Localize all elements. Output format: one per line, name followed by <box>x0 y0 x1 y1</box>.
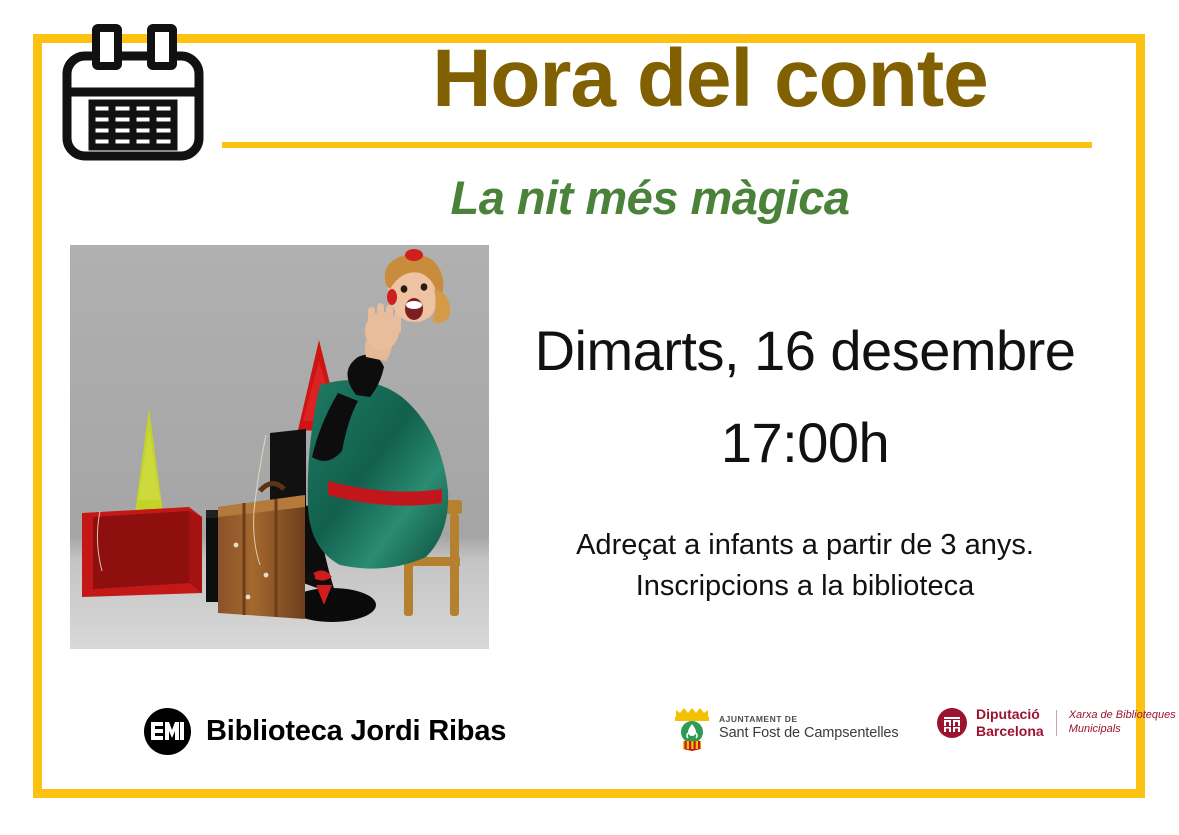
xarxa-biblioteques-name: Xarxa de Biblioteques Municipals <box>1069 709 1176 737</box>
event-time: 17:00h <box>490 410 1120 475</box>
ajuntament-municipality: Sant Fost de Campsentelles <box>719 725 899 741</box>
diputacio-line-1: Diputació <box>976 706 1044 723</box>
diputacio-seal-icon <box>937 708 967 738</box>
event-poster: Hora del conte La nit més màgica <box>0 0 1179 835</box>
event-note-line-1: Adreçat a infants a partir de 3 anys. <box>480 525 1130 566</box>
event-photo <box>70 245 489 649</box>
ajuntament-logo: AJUNTAMENT DE Sant Fost de Campsentelles <box>672 705 899 751</box>
diputacio-name: Diputació Barcelona <box>976 706 1044 739</box>
diputacio-logo: Diputació Barcelona Xarxa de Biblioteque… <box>937 706 1176 739</box>
ajuntament-text: AJUNTAMENT DE Sant Fost de Campsentelles <box>719 715 899 741</box>
title-divider <box>222 142 1092 148</box>
diputacio-separator <box>1056 710 1057 736</box>
diputacio-line-2: Barcelona <box>976 723 1044 740</box>
ajuntament-crest-icon <box>672 705 712 751</box>
poster-subtitle: La nit més màgica <box>200 170 1100 225</box>
calendar-icon <box>53 8 213 168</box>
library-logo: Biblioteca Jordi Ribas <box>144 708 506 755</box>
xarxa-line-1: Xarxa de Biblioteques <box>1069 709 1176 723</box>
library-name: Biblioteca Jordi Ribas <box>206 715 506 748</box>
poster-footer: Biblioteca Jordi Ribas <box>44 700 1134 778</box>
event-date: Dimarts, 16 desembre <box>490 320 1120 383</box>
ajuntament-label: AJUNTAMENT DE <box>719 715 899 725</box>
event-note: Adreçat a infants a partir de 3 anys. In… <box>480 525 1130 607</box>
page-title: Hora del conte <box>330 38 1090 120</box>
event-note-line-2: Inscripcions a la biblioteca <box>480 566 1130 607</box>
library-bm-logo-icon <box>144 708 191 755</box>
xarxa-line-2: Municipals <box>1069 723 1176 737</box>
